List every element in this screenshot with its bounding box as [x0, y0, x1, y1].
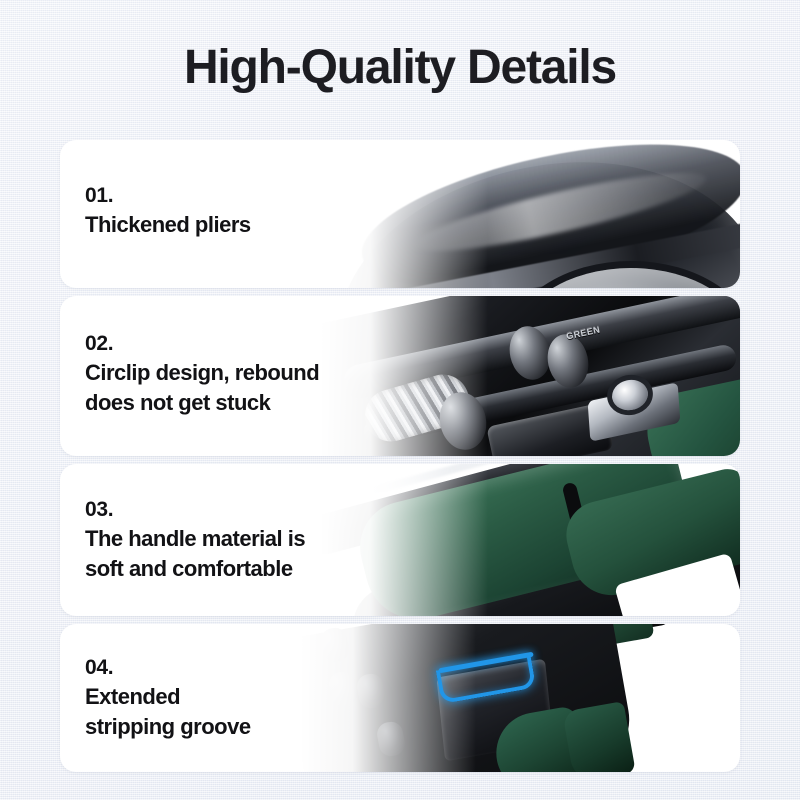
feature-line: The handle material is	[85, 524, 305, 554]
feature-number: 04.	[85, 654, 251, 682]
feature-line: does not get stuck	[85, 388, 319, 418]
product-photo-stripping-groove	[300, 624, 740, 772]
feature-text-03: 03. The handle material is soft and comf…	[85, 496, 305, 584]
feature-text-04: 04. Extended stripping groove	[85, 654, 251, 742]
feature-number: 03.	[85, 496, 305, 524]
feature-line: soft and comfortable	[85, 554, 305, 584]
feature-line: Circlip design, rebound	[85, 358, 319, 388]
green-grip-bottom-b	[562, 701, 636, 772]
feature-card-03[interactable]: 03. The handle material is soft and comf…	[60, 464, 740, 616]
feature-text-02: 02. Circlip design, rebound does not get…	[85, 330, 319, 418]
page-title: High-Quality Details	[0, 42, 800, 95]
feature-line: Extended	[85, 682, 251, 712]
product-photo-thickened-pliers	[320, 140, 740, 288]
product-photo-handle-material	[320, 464, 740, 616]
feature-number: 01.	[85, 182, 251, 210]
feature-card-01[interactable]: 01. Thickened pliers	[60, 140, 740, 288]
feature-number: 02.	[85, 330, 319, 358]
product-detail-page: High-Quality Details 01. Thickened plier…	[0, 0, 800, 800]
feature-line: Thickened pliers	[85, 210, 251, 240]
feature-text-01: 01. Thickened pliers	[85, 182, 251, 240]
feature-card-02[interactable]: GREEN 02. Circlip design, rebound does n…	[60, 296, 740, 456]
feature-card-list: 01. Thickened pliers GREEN 02.	[60, 140, 740, 780]
product-photo-circlip-design: GREEN	[320, 296, 740, 456]
feature-line: stripping groove	[85, 712, 251, 742]
feature-card-04[interactable]: 04. Extended stripping groove	[60, 624, 740, 772]
